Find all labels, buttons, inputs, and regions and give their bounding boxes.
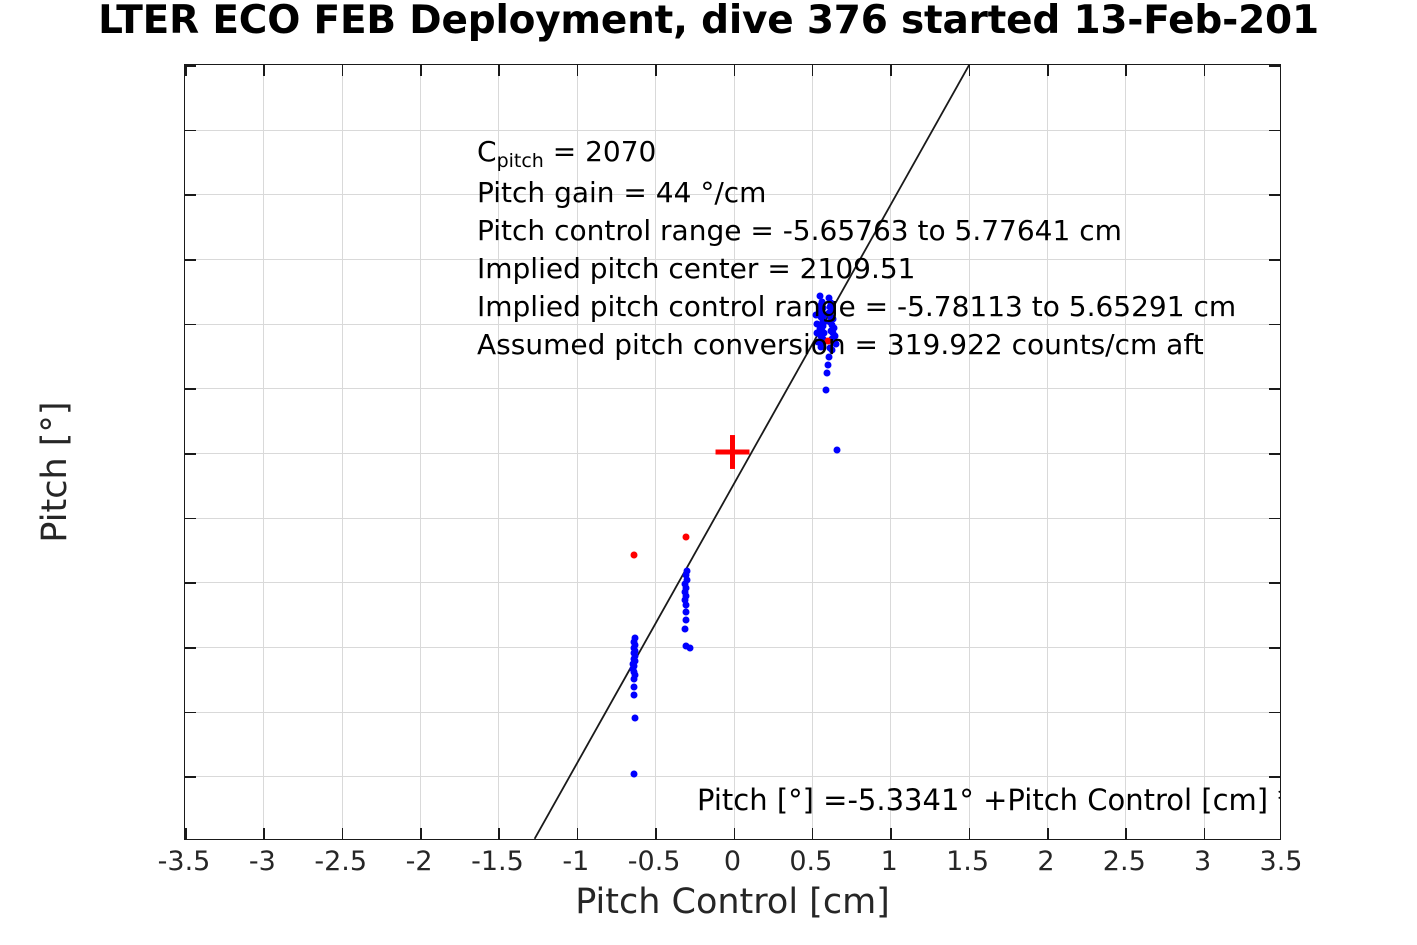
annotation-line-cpitch: Cpitch = 2070 [477, 133, 1236, 174]
x-tick-label: 2.5 [1103, 846, 1146, 877]
x-tick-label: -1.5 [471, 846, 524, 877]
x-tick-label: 0.5 [789, 846, 832, 877]
annotation-line-pitch-conversion: Assumed pitch conversion = 319.922 count… [477, 326, 1236, 364]
x-tick-label: 1 [881, 846, 898, 877]
x-axis-title: Pitch Control [cm] [184, 882, 1281, 922]
fit-equation-label: Pitch [°] =-5.3341° +Pitch Control [cm] … [697, 783, 1281, 817]
annotation-cpitch-subscript: pitch [497, 150, 544, 172]
annotation-line-pitch-control-range: Pitch control range = -5.65763 to 5.7764… [477, 212, 1236, 250]
parameter-annotation: Cpitch = 2070 Pitch gain = 44 °/cm Pitch… [477, 133, 1236, 364]
y-axis-tick [185, 839, 196, 840]
annotation-cpitch-value: = 2070 [544, 135, 657, 168]
x-tick-label: 3.5 [1260, 846, 1303, 877]
x-tick-label: -3 [249, 846, 276, 877]
x-axis-tick [1280, 65, 1281, 76]
y-axis-title: Pitch [°] [35, 222, 75, 722]
x-tick-label: 2 [1037, 846, 1054, 877]
x-tick-label: 1.5 [946, 846, 989, 877]
x-tick-label: 0 [724, 846, 741, 877]
x-tick-label: -0.5 [628, 846, 681, 877]
chart-page: LTER ECO FEB Deployment, dive 376 starte… [0, 0, 1417, 945]
x-tick-label: -1 [562, 846, 589, 877]
plot-area: Cpitch = 2070 Pitch gain = 44 °/cm Pitch… [184, 64, 1281, 840]
annotation-line-pitch-gain: Pitch gain = 44 °/cm [477, 174, 1236, 212]
x-tick-label: -2.5 [314, 846, 367, 877]
annotation-line-implied-control-range: Implied pitch control range = -5.78113 t… [477, 288, 1236, 326]
annotation-cpitch-symbol: C [477, 135, 497, 168]
x-tick-label: -3.5 [158, 846, 211, 877]
y-axis-tick [1269, 839, 1280, 840]
x-axis-tick [1280, 828, 1281, 839]
annotation-line-implied-pitch-center: Implied pitch center = 2109.51 [477, 250, 1236, 288]
x-tick-label: -2 [406, 846, 433, 877]
page-title: LTER ECO FEB Deployment, dive 376 starte… [98, 0, 1319, 43]
x-tick-label: 3 [1194, 846, 1211, 877]
